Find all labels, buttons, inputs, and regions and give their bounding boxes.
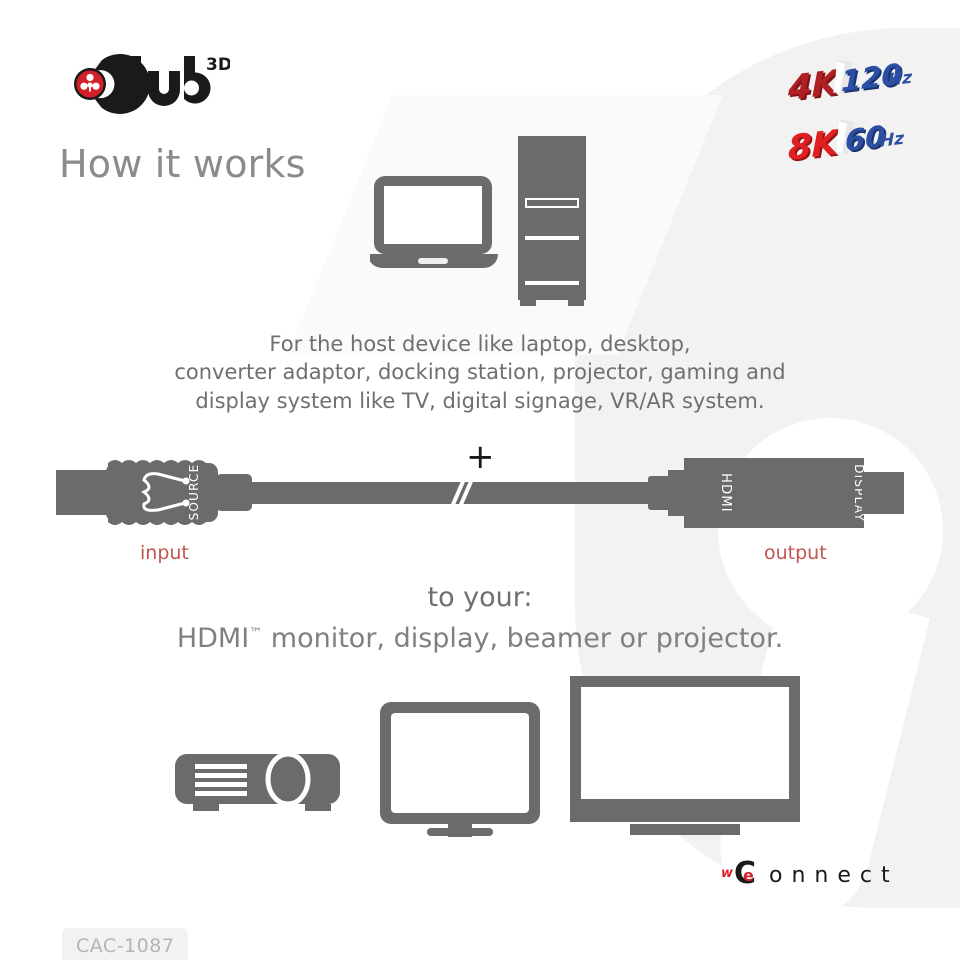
- output-heading: to your:: [0, 582, 960, 613]
- badge-8k-resolution-text: 8K: [788, 123, 841, 169]
- weconnect-rest-text: onnect: [769, 863, 899, 888]
- weconnect-e-mark: e: [743, 866, 754, 885]
- output-subheading-rest: monitor, display, beamer or projector.: [262, 623, 783, 654]
- club3d-logo: 3D: [60, 52, 230, 116]
- projector-icon: [175, 754, 340, 811]
- host-device-icons: [370, 128, 600, 318]
- product-infographic: 3D How it works 4K 4K 120 120 Hz: [0, 0, 960, 960]
- cable-left-tail: [56, 470, 108, 515]
- resolution-badges: 4K 4K 120 120 Hz 8K 8K: [772, 60, 912, 180]
- desktop-tower-icon: [518, 136, 586, 306]
- part-number-badge: CAC-1087: [62, 928, 188, 960]
- svg-text:3D: 3D: [206, 55, 230, 75]
- badge-8k-refresh-unit: Hz: [880, 129, 904, 152]
- cable-diagram: SOURCE HDMI DISPLAY: [0, 430, 960, 560]
- output-subheading: HDMI™ monitor, display, beamer or projec…: [0, 623, 960, 654]
- weconnect-w-mark: w: [721, 866, 734, 881]
- weconnect-logo: w C e onnect: [721, 855, 936, 893]
- cable-strain-relief-left: [216, 474, 252, 511]
- output-connector-tip: [862, 472, 904, 514]
- output-subheading-prefix: HDMI: [177, 623, 249, 654]
- host-description-line-3: display system like TV, digital signage,…: [0, 387, 960, 415]
- badge-8k-60hz: 8K 8K 60 60 Hz: [772, 120, 912, 180]
- input-label: input: [140, 542, 189, 564]
- badge-4k-resolution-text: 4K: [787, 63, 841, 109]
- source-connector-text: SOURCE: [187, 464, 201, 521]
- badge-4k-120hz: 4K 4K 120 120 Hz: [772, 60, 912, 120]
- trademark-symbol: ™: [249, 626, 262, 641]
- source-connector: SOURCE: [106, 460, 218, 525]
- output-connector: HDMI DISPLAY: [684, 458, 904, 528]
- output-connector-hdmi-text: HDMI: [718, 473, 733, 513]
- output-label: output: [764, 542, 827, 564]
- page-title: How it works: [59, 142, 306, 186]
- badge-4k-refresh-unit: Hz: [888, 68, 912, 91]
- laptop-icon: [370, 176, 498, 268]
- output-device-icons: [165, 672, 805, 837]
- host-description: For the host device like laptop, desktop…: [0, 330, 960, 415]
- tv-icon: [565, 676, 805, 835]
- monitor-icon: [380, 702, 540, 837]
- host-description-line-1: For the host device like laptop, desktop…: [0, 330, 960, 358]
- host-description-line-2: converter adaptor, docking station, proj…: [0, 358, 960, 386]
